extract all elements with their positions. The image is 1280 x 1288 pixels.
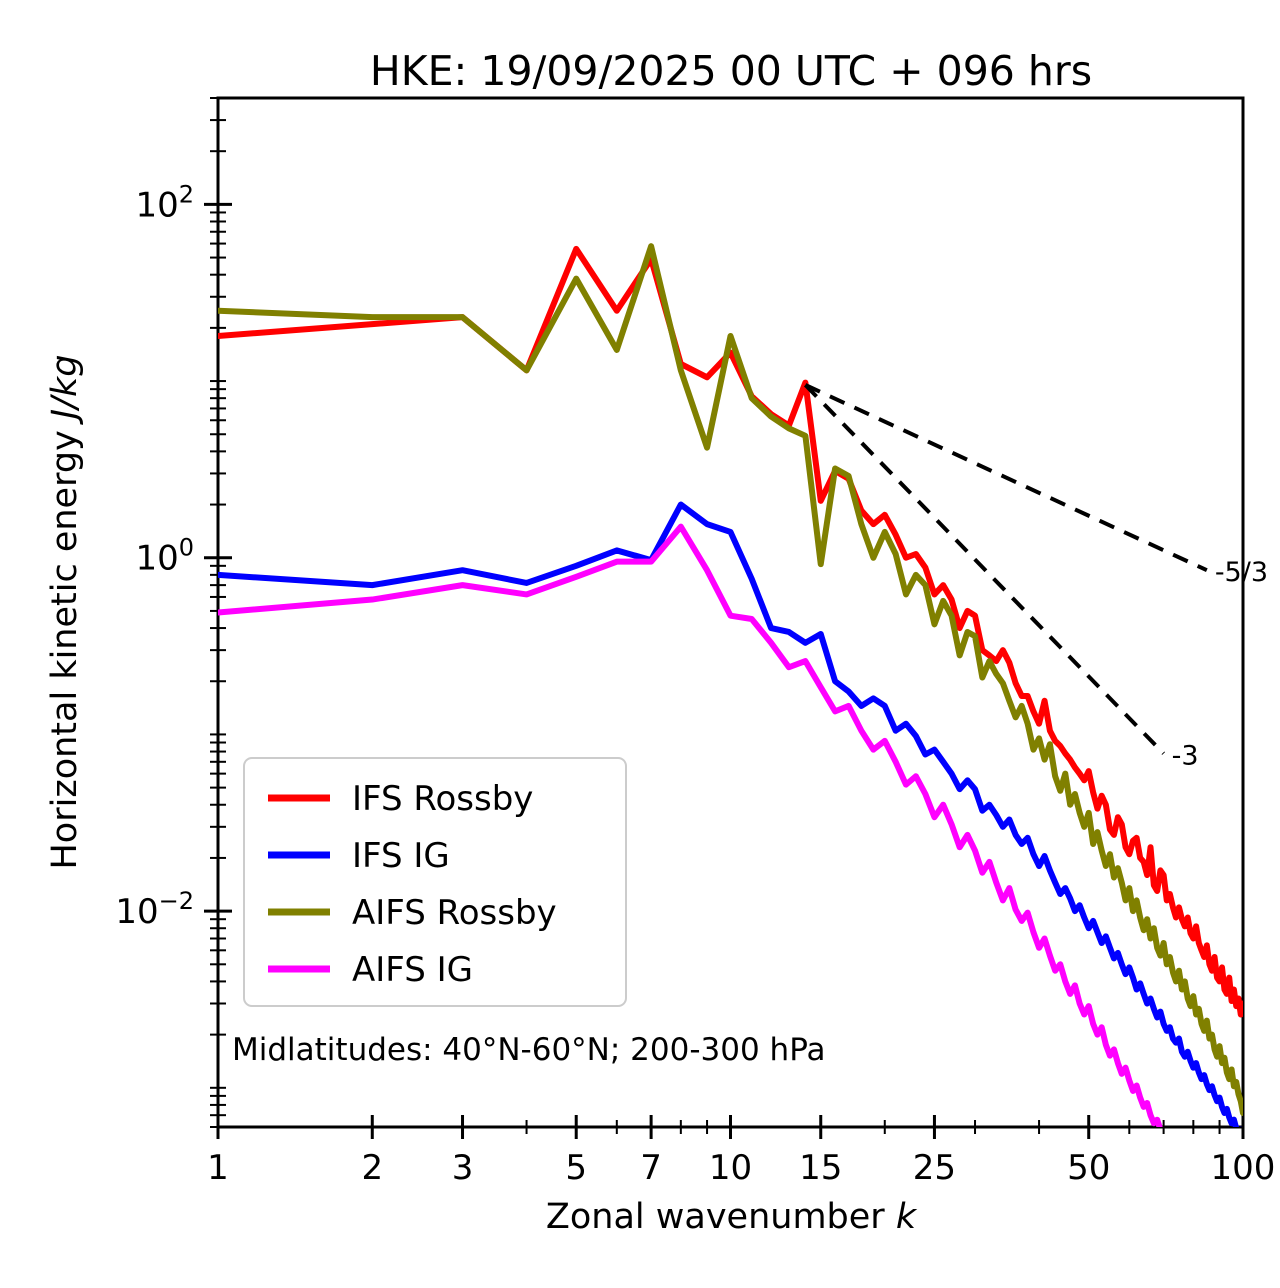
x-tick-label: 50 [1067,1148,1110,1188]
legend-label-aifs-rossby[interactable]: AIFS Rossby [352,893,557,933]
reference-line--3 [805,385,1163,754]
reference-line-label: -5/3 [1215,557,1268,588]
y-tick-label: 102 [135,180,194,225]
x-tick-label: 10 [709,1148,752,1188]
chart-title: HKE: 19/09/2025 00 UTC + 096 hrs [370,47,1092,95]
y-tick-mantissa: 10 [135,539,178,579]
x-tick-label: 100 [1211,1148,1276,1188]
x-tick-label: 2 [361,1148,383,1188]
y-tick-label: 100 [135,534,194,579]
x-axis-label: Zonal wavenumber k [546,1197,918,1237]
y-axis-ticks: 10210010−2 [115,180,232,932]
legend-label-ifs-rossby[interactable]: IFS Rossby [352,779,533,819]
y-tick-label: 10−2 [115,887,194,932]
y-axis-label-units: J/kg [45,354,85,425]
x-tick-label: 25 [913,1148,956,1188]
y-axis-label-main: Horizontal kinetic energy [45,419,85,869]
reference-line-label: -3 [1172,740,1199,771]
hke-spectrum-chart: HKE: 19/09/2025 00 UTC + 096 hrs 1235710… [0,0,1280,1288]
y-tick-exponent: 0 [179,534,194,562]
x-tick-label: 5 [565,1148,587,1188]
chart-legend[interactable]: IFS RossbyIFS IGAIFS RossbyAIFS IG [244,758,626,1006]
legend-label-aifs-ig[interactable]: AIFS IG [352,950,473,990]
y-tick-mantissa: 10 [135,185,178,225]
y-tick-exponent: −2 [159,887,194,915]
figure-canvas: HKE: 19/09/2025 00 UTC + 096 hrs 1235710… [0,0,1280,1288]
x-axis-label-main: Zonal wavenumber [546,1197,896,1237]
x-tick-label: 7 [640,1148,662,1188]
region-annotation: Midlatitudes: 40°N-60°N; 200-300 hPa [232,1032,826,1068]
y-tick-exponent: 2 [179,180,194,208]
x-tick-label: 1 [207,1148,229,1188]
x-axis-label-symbol: k [896,1197,918,1237]
x-tick-label: 15 [799,1148,842,1188]
y-axis-label: Horizontal kinetic energy J/kg [45,354,85,869]
y-tick-mantissa: 10 [115,892,158,932]
x-axis-minor-ticks [218,1120,1243,1134]
legend-label-ifs-ig[interactable]: IFS IG [352,836,450,876]
x-tick-label: 3 [452,1148,474,1188]
